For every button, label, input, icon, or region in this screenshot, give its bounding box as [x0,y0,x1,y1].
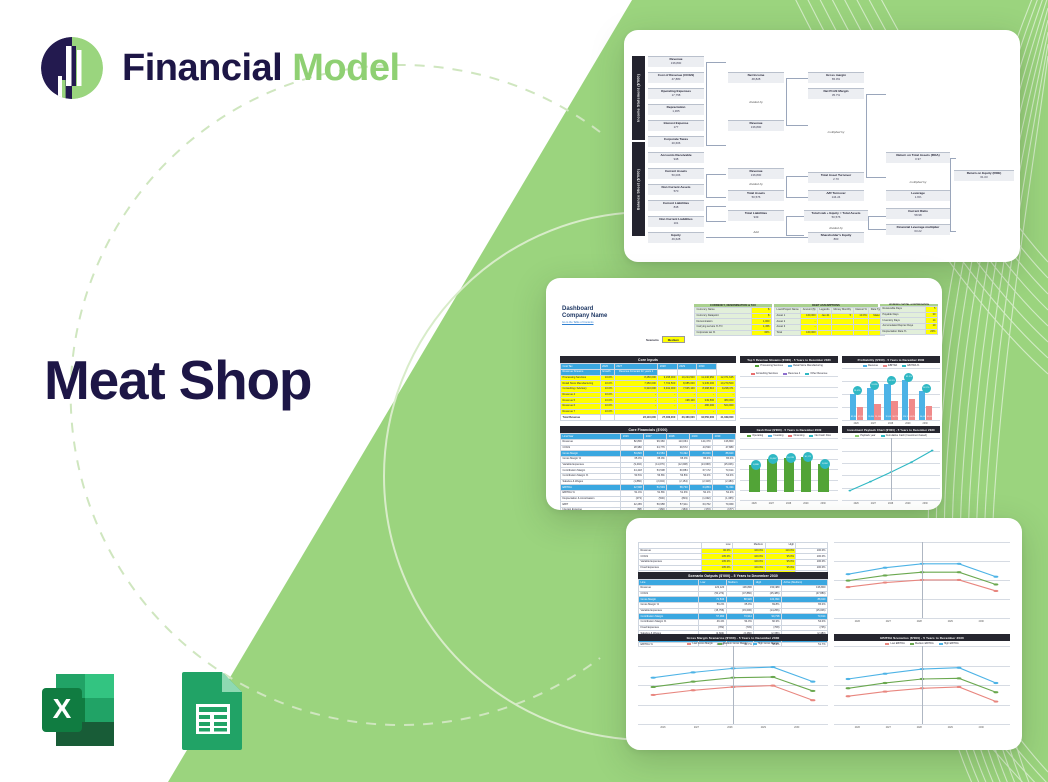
legend-item: High EBITDA [939,642,959,645]
x-tick-label: 2029 [905,503,910,505]
legend-item: Retail Store Manufacturing [788,364,823,367]
legend-item: Revenue [863,364,878,367]
x-tick-label: 2027 [886,621,891,623]
dashboard-heading: Dashboard Company Name Go to the Table o… [562,306,682,324]
connector-8 [866,94,886,178]
bar-value-label: 64,854 [910,416,916,418]
legend-item: Investing [768,434,783,437]
x-tick-label: 2030 [979,621,984,623]
legend-item: Payback year [855,434,875,437]
scenario-sheet: LowMediumHighRevenue90.0%100.0%110.0%100… [626,518,1022,750]
node-non-current-liabilities: Non Current Liabilities 101 [648,216,704,227]
gridline [740,387,838,388]
node-non-current-assets: Non Current Assets 570 [648,184,704,195]
brand-word-model: Model [292,47,399,89]
data-bubble: 10,378 [786,453,796,463]
op-divided-by-3: divided by [808,226,864,230]
node-net-profit-margin: Net Profit Margin 35.7% [808,88,864,99]
node-total-liab-equity: Total Liab + Equity = Total Assets 50,57… [804,210,868,221]
scenario-value[interactable]: Medium [662,336,685,343]
op-divided-by-2: divided by [728,182,784,186]
node-interest-expense: Interest Expense 177 [648,120,704,131]
legend-item: High Gross Margin [753,642,779,645]
gridline [740,418,838,419]
chart-plot: 20262027202820292030 [834,542,1010,618]
bar-ebitda: 51,504 [874,404,881,421]
gridline [740,500,838,501]
node-net-income: Net Income 48,828 [728,72,784,83]
core-financials-table: Line/Year20262027202820292030Revenue82,8… [560,433,736,510]
legend-item: Low EBITDA [885,642,905,645]
legend-item: Processing Services [755,364,783,367]
x-tick-label: 2030 [923,503,928,505]
core-inputs-title: Core Inputs [560,356,736,363]
data-bubble: 10,067 [768,454,778,464]
node-equity: Equity 49,628 [648,232,704,243]
table-cell: 27,460,000 [658,415,677,421]
core-inputs-block: Core Inputs Cost Tax20262027202820292030… [560,356,736,421]
gross-margin-scenarios-chart[interactable]: Gross Margin Scenarios ($'000) - 5 Years… [638,634,828,724]
x-tick-label: 2028 [727,727,732,729]
left-panel: Financial Model Meat Shop X [0,0,470,782]
node-ar-turnover: A/R Turnover 144.24 [808,190,864,201]
dashboard-card[interactable]: Dashboard Company Name Go to the Table o… [546,278,942,510]
table-row: Interest Expense(88)(160)(163)(170)(177) [561,507,736,510]
brand-word-financial: Financial [122,47,282,89]
x-tick-label: 2029 [905,423,910,425]
working-capital-table: Receivable Days5Payable Days30Inventory … [880,306,938,335]
chart-plot: 82,80042,53851.4%99,36051,50451.8%113,06… [842,368,940,420]
node-total-asset-turnover: Total Asset Turnover 2.70 [808,172,864,183]
gridline [740,438,838,439]
legend-item: Medium EBITDA [910,642,934,645]
connector-10 [950,158,956,232]
brand-wordmark: Financial Model [122,49,400,87]
bar-value-label: 58,730 [892,416,898,418]
x-tick-label: 2026 [854,423,859,425]
node-current-assets: Current Assets 50,006 [648,168,704,179]
financial-ratio-tree-card[interactable]: Income Statement ($'000) Balance Sheet (… [624,30,1020,262]
table-cell: Corporate tax % [695,330,752,336]
legend-item: Operating [747,434,763,437]
x-tick-label: 2028 [786,503,791,505]
page-title: Meat Shop [44,352,311,410]
table-cell [818,330,832,336]
table-cell: (170) [690,507,713,510]
node-leverage: Leverage 1.9% [886,190,950,201]
node-accounts-receivable: Accounts Receivable 948 [648,152,704,163]
connector-7 [786,216,804,236]
node-current-ratio: Current Ratio 58.98 [886,208,950,219]
x-tick-label: 2026 [855,727,860,729]
node-roe: Return on Equity (ROE) 61.03 [954,170,1014,181]
bar-revenue: 90,000 [919,391,926,420]
legend-item: Cumulative Cash (Investment based) [881,434,927,437]
node-gross-margin: Gross margin 65.0% [808,72,864,83]
core-financials-block: Core Financials ($'000) Line/Year2026202… [560,426,736,510]
table-cell: 20% [926,329,938,335]
x-tick-label: 2028 [917,727,922,729]
op-add: Add [728,230,784,234]
connector-5 [786,78,808,126]
gridline [740,376,838,377]
profitability-chart[interactable]: Profitability ($'000) - 5 Years to Decem… [842,356,940,420]
node-opex: Operating Expenses 17,758 [648,88,704,99]
chart-plot: 20262027202820292030 [842,438,940,500]
x-tick-label: 2029 [948,727,953,729]
svg-text:X: X [53,693,72,724]
table-cell [600,415,614,421]
ratio-tree-sheet: Income Statement ($'000) Balance Sheet (… [624,30,1020,262]
x-tick-label: 2028 [888,423,893,425]
gridline [834,618,1010,619]
table-row: Depreciation Rate %20% [881,329,938,335]
scenario-revenue-chart[interactable]: 20262027202820292030 [834,542,1010,618]
scenario-analysis-card[interactable]: LowMediumHighRevenue90.0%100.0%110.0%100… [626,518,1022,750]
table-cell: 34,550,000 [697,415,716,421]
ebitda-scenarios-chart[interactable]: EBITDA Scenarios ($'000) - 5 Years to De… [834,634,1010,724]
connector-6 [786,176,808,198]
table-cell: 22,110,000 [614,415,658,421]
gridline [638,724,828,725]
chart-legend: Processing ServicesRetail Store Manufact… [740,363,838,376]
node-financial-leverage-multiplier: Financial Leverage multiplier 63.22 [886,224,950,235]
gridline [740,397,838,398]
axis-line [922,646,923,724]
data-bubble: 51.4% [853,386,862,395]
data-bubble: 51.8% [870,381,879,390]
axis-line [733,646,734,724]
app-icon-group: X [34,664,258,756]
scenario-outputs-title: Scenario Outputs ($'000) - 5 Years to De… [638,572,828,579]
node-total-assets: Total Assets 50,576 [728,190,784,201]
data-bubble: 51.9% [887,376,896,385]
connector-9 [868,216,886,230]
core-inputs-table: Cost Tax20262027202820292030Revenue Stre… [560,363,736,421]
ratio-tree: Income Statement ($'000) Balance Sheet (… [624,30,1020,262]
node-depreciation: Depreciation 1,365 [648,104,704,115]
bar-value-label: 42,538 [858,416,864,418]
table-cell: 30% [752,330,772,336]
table-cell: (177) [713,507,736,510]
x-tick-label: 2026 [752,503,757,505]
table-cell: Interest Expense [561,507,621,510]
node-revenue-3: Revenue 136,800 [728,168,784,179]
bar [801,457,811,492]
table-row: Total160,000 [775,330,885,336]
table-cell [853,330,869,336]
x-tick-label: 2030 [923,423,928,425]
x-tick-label: 2028 [888,503,893,505]
x-tick-label: 2029 [948,621,953,623]
node-total-liabilities: Total Liabilities 949 [728,210,784,221]
x-tick-label: 2026 [855,621,860,623]
table-cell: Total Revenue [561,415,601,421]
working-capital-block: WORKING CAPITAL & DEPRECIATION Receivabl… [880,304,938,335]
legend-item: Low Gross Margin [687,642,712,645]
bar-value-label: 45,000 [927,416,933,418]
table-cell: Total [775,330,801,336]
bar-ebitda: 64,854 [909,399,916,420]
legend-item: EBITDA [883,364,897,367]
x-tick-label: 2027 [871,423,876,425]
connector-2 [706,174,726,198]
connector-4 [706,237,808,238]
node-current-liabilities: Current Liabilities 848 [648,200,704,211]
table-cell: (88) [621,507,644,510]
bar-ebitda: 58,730 [891,401,898,420]
bar [784,458,794,492]
toc-link[interactable]: Go to the Table of Contents [562,321,682,324]
scenario-toggle[interactable]: Scenario Medium [646,336,685,343]
node-corporate-taxes: Corporate Taxes 20,606 [648,136,704,147]
currency-table: Currency Name$Currency Datapoint$Denomin… [694,307,772,336]
legend-item: Consulting Services [751,372,778,375]
brand-logo[interactable]: Financial Model [36,32,400,104]
table-cell: Depreciation Rate % [881,329,926,335]
legend-item: Net Cash Flow [809,434,831,437]
op-divided-by-1: divided by [728,100,784,104]
axis-line [922,542,923,618]
x-tick-label: 2027 [886,727,891,729]
table-cell: 160,000 [801,330,818,336]
bar-ebitda: 45,000 [926,406,933,421]
data-bubble: 52.2% [922,384,931,393]
x-tick-label: 2029 [761,727,766,729]
x-tick-label: 2029 [803,503,808,505]
x-tick-label: 2028 [917,621,922,623]
debt-table: Loan/Project NameAmount ($)LegendsMoney … [774,307,885,336]
gridline [834,724,1010,725]
data-bubble: 10,171 [803,452,813,462]
x-tick-label: 2027 [871,503,876,505]
bar-revenue: 82,800 [850,394,857,421]
op-multiplied-by-2: multiplied by [886,180,950,184]
legend-item: Revenue 4 [783,372,800,375]
connector-1 [706,62,726,146]
legend-item: Medium Gross Margin [718,642,748,645]
x-tick-label: 2030 [821,503,826,505]
gridline [740,449,838,450]
investment-payback-chart[interactable]: Investment Payback Chart ($'000) - 5 Yea… [842,426,940,500]
axis-line [891,438,892,500]
x-tick-label: 2027 [769,503,774,505]
table-cell: (163) [667,507,690,510]
debt-block: DEBT ASSUMPTIONS Loan/Project NameAmount… [774,304,878,336]
x-tick-label: 2030 [979,727,984,729]
chart-plot: 20262027202820292030 [638,646,828,724]
bar-value-label: 51,504 [875,416,881,418]
connector-3 [706,206,726,222]
table-cell: 41,039,000 [716,415,735,421]
financial-model-logo-icon [36,32,108,104]
node-revenue: Revenue 136,800 [648,56,704,67]
x-tick-label: 2030 [794,727,799,729]
gridline [740,407,838,408]
bar-revenue: 124,370 [902,380,909,420]
band-income-statement: Income Statement ($'000) [632,56,645,140]
cash-flow-chart[interactable]: Cash Flow ($'000) - 5 Years to December … [740,426,838,500]
table-cell: 30,460,000 [677,415,696,421]
chart-plot: 20262027202820292030 [834,646,1010,724]
gridline [842,368,940,369]
top5-revenue-streams-chart[interactable]: Top 5 Revenue Streams ($'000) - 5 Years … [740,356,838,428]
data-bubble: 8,052 [820,459,830,469]
table-row: Total Revenue22,110,00027,460,00030,460,… [561,415,736,421]
gridline [842,500,940,501]
legend-item: Other Revenue [805,372,827,375]
legend-item: Financing [788,434,804,437]
core-financials-title: Core Financials ($'000) [560,426,736,433]
node-roa: Return on Total Assets (ROA) 0.97 [886,152,950,163]
op-multiplied-by-1: multiplied by [808,130,864,134]
dashboard-sheet: Dashboard Company Name Go to the Table o… [546,278,942,510]
gridline [842,420,940,421]
currency-block: CURRENCY, DENOMINATION & TAX Currency Na… [694,304,772,336]
bar-revenue: 113,064 [884,384,891,420]
chart-plot: 20262027202820292030 [740,376,838,428]
x-tick-label: 2027 [694,727,699,729]
bar-revenue: 99,360 [867,388,874,420]
node-cogs: Cost of Revenue (COGS) 47,880 [648,72,704,83]
microsoft-excel-icon[interactable]: X [34,664,126,756]
node-shareholders-equity: Shareholder's Equity 800 [808,232,864,243]
x-tick-label: 2026 [660,727,665,729]
node-revenue-2: Revenue 136,800 [728,120,784,131]
table-cell: (160) [644,507,667,510]
chart-plot: 8,88810,06710,37810,1718,052202620272028… [740,438,838,500]
table-cell [832,330,854,336]
legend-item: EBITDA % [902,364,919,367]
band-balance-sheet: Balance Sheet ($'000) [632,142,645,236]
bar-ebitda: 42,538 [857,407,864,421]
google-sheets-icon[interactable] [166,664,258,756]
x-tick-label: 2026 [854,503,859,505]
table-row: Corporate tax %30% [695,330,772,336]
